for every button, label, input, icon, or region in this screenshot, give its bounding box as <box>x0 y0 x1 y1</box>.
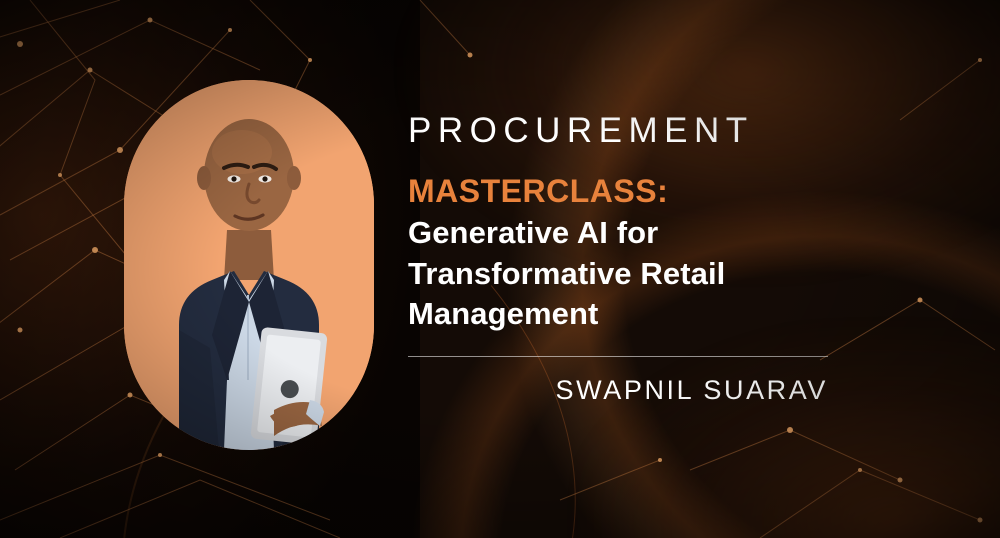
portrait-illustration <box>124 80 374 450</box>
speaker-name: SWAPNIL SUARAV <box>408 375 828 406</box>
subtitle-line-3: Management <box>408 294 928 334</box>
subtitle-line-2: Transformative Retail <box>408 254 928 294</box>
event-banner: PROCUREMENT MASTERCLASS: Generative AI f… <box>0 0 1000 538</box>
divider-line <box>408 356 828 357</box>
speaker-portrait <box>124 80 374 450</box>
masterclass-label: MASTERCLASS: <box>408 173 928 210</box>
kicker-text: PROCUREMENT <box>408 112 928 151</box>
subtitle-line-1: Generative AI for <box>408 213 928 253</box>
banner-text-block: PROCUREMENT MASTERCLASS: Generative AI f… <box>408 112 928 406</box>
